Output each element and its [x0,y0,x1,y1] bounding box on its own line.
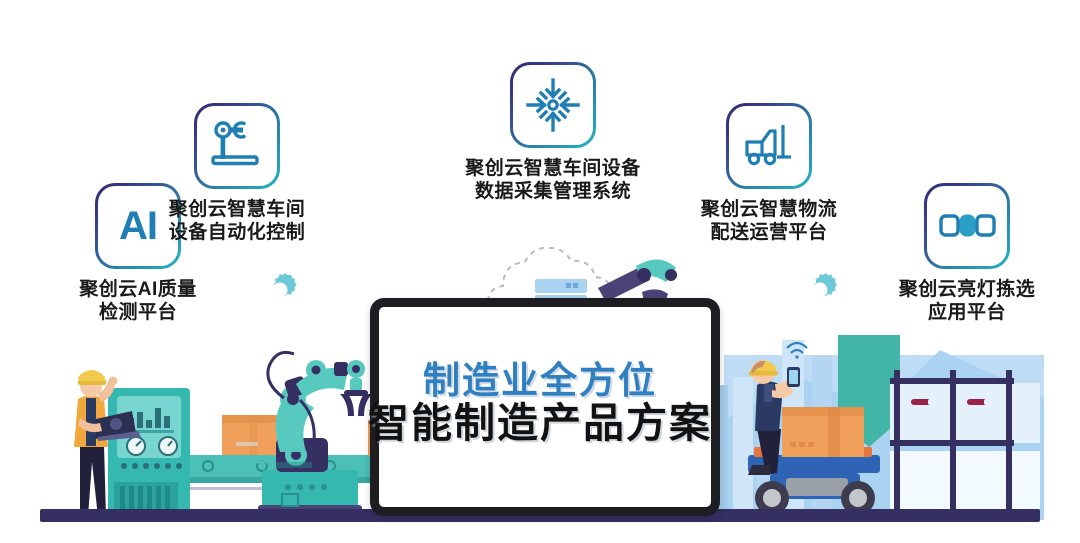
feature-data-acquisition[interactable]: 聚创云智慧车间设备 数据采集管理系统 [438,62,668,203]
feature-label-workshop-automation: 聚创云智慧车间 设备自动化控制 [169,198,306,244]
headline-line-1: 制造业全方位 [0,360,1080,401]
converging-arrows-icon [525,77,581,133]
headline-line-2: 智能制造产品方案 [0,401,1080,447]
forklift-icon-frame [726,103,812,189]
forklift-icon [740,117,798,175]
robot-arm-icon-frame [194,103,280,189]
feature-smart-logistics[interactable]: 聚创云智慧物流 配送运营平台 [654,103,884,244]
infographic-poster: 制造业全方位 智能制造产品方案 AI 聚创云AI质量 检测平台 [0,0,1080,543]
pick-to-light-icon [938,211,996,241]
gear-decoration-left [262,272,298,308]
feature-label-ai-quality: 聚创云AI质量 检测平台 [79,278,197,324]
feature-label-data-acquisition: 聚创云智慧车间设备 数据采集管理系统 [465,157,641,203]
data-icon-frame [510,62,596,148]
poster-headline: 制造业全方位 智能制造产品方案 [0,360,1080,447]
feature-label-pick-to-light: 聚创云亮灯拣选 应用平台 [899,278,1036,324]
pick-to-light-icon-frame [924,183,1010,269]
feature-workshop-automation[interactable]: 聚创云智慧车间 设备自动化控制 [122,103,352,244]
feature-label-smart-logistics: 聚创云智慧物流 配送运营平台 [701,198,838,244]
gear-decoration-right [802,272,838,308]
robot-arm-icon [208,117,266,175]
feature-pick-to-light[interactable]: 聚创云亮灯拣选 应用平台 [852,183,1080,324]
